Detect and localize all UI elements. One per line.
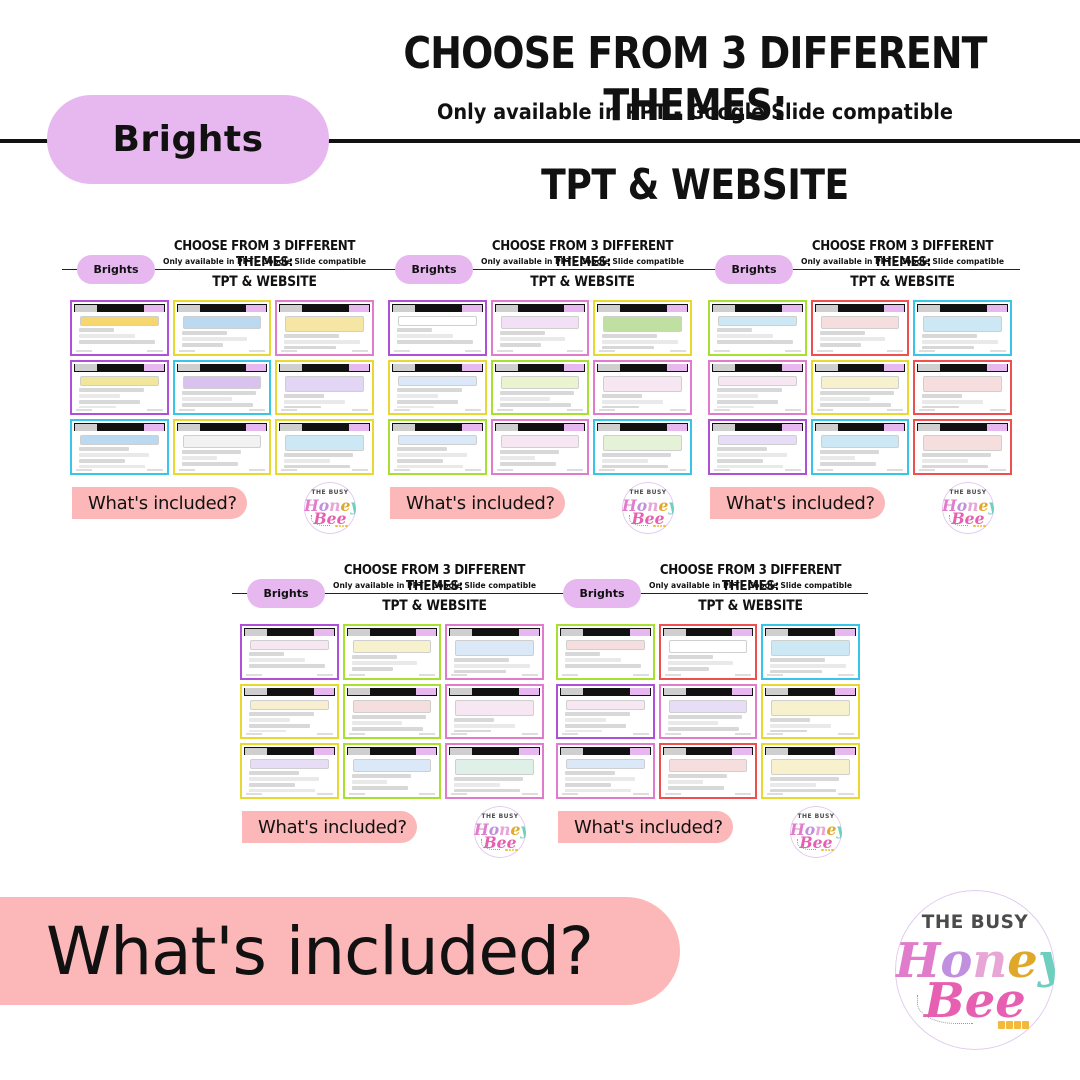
slide-footer (562, 674, 649, 677)
slide-grid (388, 300, 692, 475)
slide-content-block (923, 376, 1002, 392)
slide-text-line (454, 670, 505, 673)
slide-body (348, 638, 437, 673)
slide-footer (817, 409, 904, 412)
preview-card[interactable]: BrightsCHOOSE FROM 3 DIFFERENT THEMES:On… (380, 238, 700, 528)
slide-text-line (79, 394, 120, 398)
card-theme-badge[interactable]: Brights (563, 579, 641, 608)
slide-footer (451, 793, 538, 796)
slide-theme-tag (416, 629, 436, 636)
slide-footer (599, 469, 686, 472)
slide-text-line (668, 721, 719, 725)
slide-text-line (717, 453, 787, 457)
slide-footer (246, 733, 333, 736)
slide-body (280, 374, 369, 409)
card-whats-included-button[interactable]: What's included? (710, 487, 885, 519)
slide-text-line (668, 667, 710, 671)
slide-lesson-tag (450, 688, 472, 695)
slide-thumbnail[interactable] (556, 743, 655, 799)
slide-thumbnail[interactable] (445, 624, 544, 680)
slide-thumbnail[interactable] (491, 419, 590, 475)
slide-thumbnail[interactable] (913, 360, 1012, 416)
slide-text-line (500, 397, 551, 401)
slide-lesson-tag (713, 364, 735, 371)
slide-thumbnail[interactable] (811, 360, 910, 416)
slide-thumbnail[interactable] (556, 624, 655, 680)
slide-grid (556, 624, 860, 799)
slide-theme-tag (519, 748, 539, 755)
slide-text-line (922, 406, 958, 409)
slide-body (713, 433, 802, 468)
slide-thumbnail[interactable] (491, 300, 590, 356)
slide-text-line (352, 655, 397, 659)
slide-footer (76, 409, 163, 412)
slide-lesson-tag (664, 629, 686, 636)
slide-thumbnail[interactable] (240, 743, 339, 799)
slide-text-line (602, 453, 671, 457)
card-theme-badge[interactable]: Brights (77, 255, 155, 284)
slide-text-line (352, 667, 394, 671)
slide-body (816, 374, 905, 409)
slide-body (178, 433, 267, 468)
slide-text-line (249, 777, 319, 781)
card-whats-included-button[interactable]: What's included? (558, 811, 733, 843)
slide-text-line (352, 774, 411, 778)
slide-text-line (397, 447, 447, 451)
slide-thumbnail[interactable] (240, 624, 339, 680)
slide-text-line (668, 715, 742, 719)
slide-thumbnail[interactable] (173, 300, 272, 356)
slide-thumbnail[interactable] (708, 300, 807, 356)
slide-text-line (770, 718, 810, 722)
slide-body (393, 374, 482, 409)
slide-body (713, 314, 802, 349)
slide-text-line (500, 450, 559, 454)
card-brand-logo: THE BUSYHoneyBee (790, 806, 842, 858)
slide-theme-tag (462, 305, 482, 312)
slide-theme-tag (630, 748, 650, 755)
slide-text-line (352, 715, 426, 719)
logo-tagline: THE BUSY (895, 912, 1055, 933)
slide-thumbnail[interactable] (491, 360, 590, 416)
card-platforms-label: TPT & WEBSITE (799, 274, 1006, 290)
slide-body (348, 757, 437, 792)
slide-text-line (668, 727, 739, 731)
slide-body (598, 314, 687, 349)
slide-footer (497, 350, 584, 353)
slide-theme-tag (349, 305, 369, 312)
slide-theme-tag (144, 305, 164, 312)
slide-text-line (397, 340, 473, 344)
brand-logo-mark: THE BUSYHoneyBee (474, 806, 526, 858)
slide-thumbnail[interactable] (811, 300, 910, 356)
slide-text-line (770, 664, 845, 668)
card-whats-included-label: What's included? (390, 493, 555, 514)
card-platforms-label: TPT & WEBSITE (647, 598, 854, 614)
slide-footer (919, 409, 1006, 412)
slide-footer (919, 469, 1006, 472)
slide-thumbnail[interactable] (913, 419, 1012, 475)
slide-text-line (565, 724, 626, 728)
card-whats-included-button[interactable]: What's included? (242, 811, 417, 843)
slide-body (348, 698, 437, 733)
slide-footer (817, 469, 904, 472)
slide-text-line (820, 337, 886, 341)
slide-theme-tag (462, 424, 482, 431)
slide-lesson-tag (816, 424, 838, 431)
slide-content-block (353, 700, 432, 713)
whats-included-banner[interactable]: What's included? (0, 897, 680, 1005)
slide-text-line (565, 789, 631, 792)
slide-thumbnail[interactable] (70, 300, 169, 356)
slide-lesson-tag (348, 688, 370, 695)
slide-theme-tag (630, 629, 650, 636)
slide-text-line (922, 340, 997, 344)
slide-lesson-tag (766, 688, 788, 695)
slide-footer (451, 674, 538, 677)
slide-theme-tag (144, 424, 164, 431)
slide-text-line (820, 403, 891, 407)
slide-content-block (603, 316, 682, 332)
slide-theme-tag (667, 424, 687, 431)
slide-footer (599, 409, 686, 412)
slide-body (766, 638, 855, 673)
slide-thumbnail[interactable] (388, 300, 487, 356)
slide-text-line (820, 397, 871, 401)
slide-text-line (922, 459, 967, 463)
slide-text-line (284, 459, 329, 463)
slide-text-line (182, 450, 241, 454)
slide-body (280, 314, 369, 349)
slide-thumbnail[interactable] (659, 624, 758, 680)
slide-footer (714, 350, 801, 353)
slide-text-line (922, 346, 973, 349)
slide-text-line (602, 459, 647, 463)
slide-footer (394, 350, 481, 353)
slide-content-block (923, 435, 1002, 451)
slide-text-line (352, 661, 418, 665)
slide-lesson-tag (918, 305, 940, 312)
slide-footer (497, 469, 584, 472)
slide-thumbnail[interactable] (913, 300, 1012, 356)
slide-lesson-tag (664, 688, 686, 695)
slide-content-block (821, 316, 900, 329)
preview-card[interactable]: BrightsCHOOSE FROM 3 DIFFERENT THEMES:On… (700, 238, 1020, 528)
slide-thumbnail[interactable] (556, 684, 655, 740)
slide-theme-tag (782, 305, 802, 312)
slide-body (450, 638, 539, 673)
slide-thumbnail[interactable] (173, 419, 272, 475)
slide-text-line (717, 340, 793, 344)
slide-theme-tag (416, 688, 436, 695)
card-brand-logo: THE BUSYHoneyBee (474, 806, 526, 858)
slide-footer (767, 733, 854, 736)
slide-text-line (770, 777, 839, 781)
slide-text-line (565, 664, 641, 668)
theme-badge-label: Brights (112, 119, 263, 160)
slide-thumbnail[interactable] (275, 300, 374, 356)
slide-thumbnail[interactable] (388, 360, 487, 416)
slide-footer (767, 793, 854, 796)
slide-lesson-tag (280, 305, 302, 312)
slide-text-line (500, 331, 545, 335)
slide-theme-tag (782, 364, 802, 371)
slide-text-line (820, 331, 865, 335)
slide-content-block (250, 700, 329, 710)
card-theme-badge[interactable]: Brights (715, 255, 793, 284)
slide-text-line (284, 346, 335, 349)
slide-text-line (565, 771, 615, 775)
slide-thumbnail[interactable] (173, 360, 272, 416)
slide-footer (714, 409, 801, 412)
slide-footer (76, 469, 163, 472)
slide-lesson-tag (280, 364, 302, 371)
card-theme-badge[interactable]: Brights (395, 255, 473, 284)
slide-lesson-tag (918, 364, 940, 371)
preview-card[interactable]: BrightsCHOOSE FROM 3 DIFFERENT THEMES:On… (232, 562, 552, 852)
brand-logo-mark: THE BUSYHoneyBee (304, 482, 356, 534)
slide-lesson-tag (598, 305, 620, 312)
slide-thumbnail[interactable] (593, 360, 692, 416)
slide-text-line (922, 465, 988, 468)
slide-text-line (182, 397, 233, 401)
slide-thumbnail[interactable] (343, 684, 442, 740)
slide-text-line (454, 783, 499, 787)
slide-thumbnail[interactable] (811, 419, 910, 475)
honeycomb-icon (505, 849, 517, 852)
slide-content-block (771, 640, 850, 656)
slide-footer (394, 409, 481, 412)
slide-text-line (284, 334, 339, 338)
slide-thumbnail[interactable] (761, 743, 860, 799)
card-theme-badge-label: Brights (411, 263, 456, 276)
slide-text-line (820, 391, 894, 395)
slide-theme-tag (667, 305, 687, 312)
slide-body (561, 638, 650, 673)
card-whats-included-label: What's included? (710, 493, 875, 514)
slide-theme-tag (835, 688, 855, 695)
preview-card[interactable]: BrightsCHOOSE FROM 3 DIFFERENT THEMES:On… (548, 562, 868, 852)
slide-text-line (397, 453, 467, 457)
slide-footer (665, 793, 752, 796)
honeycomb-icon (653, 525, 665, 528)
slide-theme-tag (416, 748, 436, 755)
slide-theme-tag (732, 629, 752, 636)
slide-content-block (353, 759, 432, 772)
slide-footer (562, 793, 649, 796)
slide-text-line (500, 403, 571, 407)
slide-lesson-tag (348, 748, 370, 755)
slide-text-line (565, 712, 630, 716)
slide-text-line (182, 462, 238, 466)
slide-lesson-tag (496, 364, 518, 371)
slide-text-line (770, 730, 806, 733)
slide-lesson-tag (816, 305, 838, 312)
slide-text-line (500, 391, 574, 395)
slide-content-block (183, 376, 262, 389)
slide-thumbnail[interactable] (70, 419, 169, 475)
slide-footer (246, 674, 333, 677)
slide-lesson-tag (918, 424, 940, 431)
slide-theme-tag (630, 688, 650, 695)
slide-content-block (566, 640, 645, 650)
slide-content-block (718, 435, 797, 445)
slide-text-line (770, 658, 825, 662)
card-theme-badge-label: Brights (263, 587, 308, 600)
slide-lesson-tag (561, 688, 583, 695)
slide-text-line (922, 334, 977, 338)
slide-lesson-tag (713, 424, 735, 431)
slide-theme-tag (519, 629, 539, 636)
slide-content-block (80, 376, 159, 386)
slide-thumbnail[interactable] (761, 684, 860, 740)
slide-content-block (398, 376, 477, 386)
slide-theme-tag (732, 688, 752, 695)
slide-content-block (669, 700, 748, 713)
slide-body (178, 314, 267, 349)
slide-thumbnail[interactable] (659, 684, 758, 740)
slide-content-block (771, 700, 850, 716)
slide-text-line (820, 343, 862, 347)
slide-text-line (500, 343, 542, 347)
slide-thumbnail[interactable] (593, 300, 692, 356)
slide-text-line (182, 337, 248, 341)
slide-text-line (565, 652, 600, 656)
slide-thumbnail[interactable] (445, 743, 544, 799)
slide-thumbnail[interactable] (275, 360, 374, 416)
slide-theme-tag (349, 364, 369, 371)
slide-thumbnail[interactable] (70, 360, 169, 416)
slide-content-block (718, 316, 797, 326)
slide-text-line (565, 658, 621, 662)
slide-text-line (602, 394, 642, 398)
slide-footer (281, 350, 368, 353)
card-whats-included-button[interactable]: What's included? (72, 487, 247, 519)
card-theme-badge[interactable]: Brights (247, 579, 325, 608)
slide-body (664, 698, 753, 733)
slide-thumbnail[interactable] (593, 419, 692, 475)
slide-content-block (183, 435, 262, 448)
slide-lesson-tag (178, 364, 200, 371)
card-subtitle: Only available in PPT - Google Slide com… (153, 257, 376, 266)
slide-thumbnail[interactable] (343, 624, 442, 680)
slide-thumbnail[interactable] (388, 419, 487, 475)
slide-body (496, 433, 585, 468)
slide-content-block (353, 640, 432, 653)
slide-footer (76, 350, 163, 353)
slide-content-block (603, 376, 682, 392)
slide-text-line (602, 334, 657, 338)
slide-text-line (182, 391, 256, 395)
slide-text-line (602, 465, 668, 468)
slide-content-block (771, 759, 850, 775)
slide-content-block (501, 376, 580, 389)
slide-thumbnail[interactable] (761, 624, 860, 680)
slide-text-line (249, 718, 290, 722)
slide-lesson-tag (393, 305, 415, 312)
slide-text-line (565, 730, 602, 733)
slide-text-line (397, 328, 432, 332)
slide-text-line (397, 394, 438, 398)
slide-footer (497, 409, 584, 412)
preview-card[interactable]: BrightsCHOOSE FROM 3 DIFFERENT THEMES:On… (62, 238, 382, 528)
card-platforms-label: TPT & WEBSITE (331, 598, 538, 614)
slide-theme-tag (782, 424, 802, 431)
slide-body (393, 314, 482, 349)
slide-text-line (397, 334, 453, 338)
slide-text-line (717, 400, 778, 404)
slide-body (496, 314, 585, 349)
slide-text-line (602, 406, 638, 409)
slide-content-block (501, 435, 580, 448)
slide-body (496, 374, 585, 409)
card-brand-logo: THE BUSYHoneyBee (304, 482, 356, 534)
slide-body (75, 374, 164, 409)
slide-body (245, 757, 334, 792)
slide-content-block (285, 316, 364, 332)
slide-text-line (602, 400, 662, 404)
slide-lesson-tag (561, 748, 583, 755)
slide-text-line (922, 453, 991, 457)
slide-body (766, 757, 855, 792)
slide-text-line (352, 780, 387, 784)
slide-text-line (922, 394, 962, 398)
slide-text-line (717, 334, 773, 338)
slide-thumbnail[interactable] (708, 360, 807, 416)
slide-theme-tag (519, 688, 539, 695)
slide-thumbnail[interactable] (343, 743, 442, 799)
slide-content-block (718, 376, 797, 386)
slide-text-line (249, 771, 299, 775)
slide-footer (665, 733, 752, 736)
slide-body (766, 698, 855, 733)
slide-footer (451, 733, 538, 736)
slide-thumbnail[interactable] (275, 419, 374, 475)
slide-theme-tag (987, 424, 1007, 431)
card-whats-included-label: What's included? (72, 493, 237, 514)
slide-theme-tag (835, 629, 855, 636)
slide-theme-tag (349, 424, 369, 431)
slide-text-line (565, 783, 611, 787)
slide-thumbnail[interactable] (659, 743, 758, 799)
theme-badge-brights[interactable]: Brights (47, 95, 329, 184)
slide-theme-tag (667, 364, 687, 371)
slide-footer (714, 469, 801, 472)
card-whats-included-button[interactable]: What's included? (390, 487, 565, 519)
slide-lesson-tag (496, 424, 518, 431)
slide-theme-tag (884, 424, 904, 431)
brand-logo: THE BUSYHoneyBee (895, 890, 1055, 1050)
slide-body (75, 433, 164, 468)
slide-body (598, 433, 687, 468)
slide-lesson-tag (766, 748, 788, 755)
slide-body (178, 374, 267, 409)
slide-text-line (352, 727, 423, 731)
slide-theme-tag (835, 748, 855, 755)
slide-content-block (398, 316, 477, 326)
slide-footer (767, 674, 854, 677)
slide-thumbnail[interactable] (445, 684, 544, 740)
slide-thumbnail[interactable] (240, 684, 339, 740)
slide-lesson-tag (450, 629, 472, 636)
slide-theme-tag (987, 305, 1007, 312)
slide-footer (394, 469, 481, 472)
slide-footer (179, 409, 266, 412)
slide-footer (349, 733, 436, 736)
slide-thumbnail[interactable] (708, 419, 807, 475)
slide-footer (562, 733, 649, 736)
brand-logo-mark: THE BUSYHoneyBee (942, 482, 994, 534)
